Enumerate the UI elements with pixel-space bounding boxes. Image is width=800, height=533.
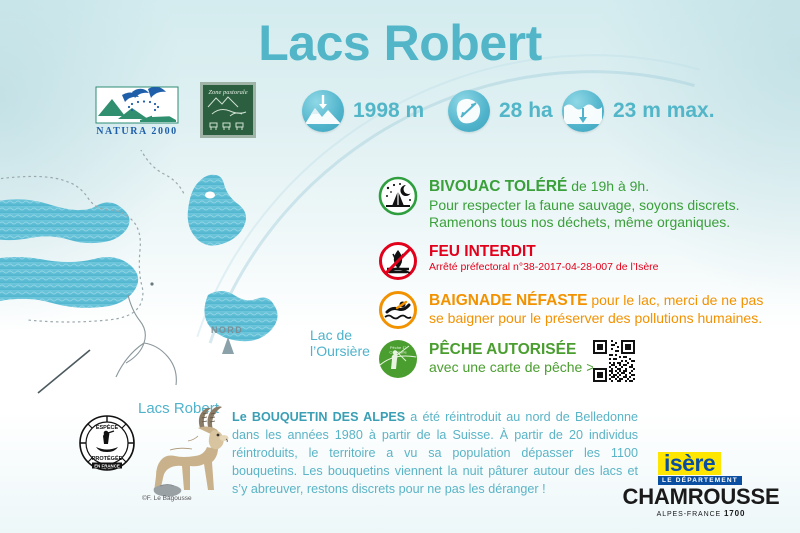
water-depth-icon	[562, 90, 604, 132]
rule-fishing-subrow: avec une carte de pêche >	[429, 359, 594, 377]
no-fire-icon	[378, 241, 418, 281]
svg-text:Catégorie: Catégorie	[389, 349, 407, 354]
rule-bivouac-line1: Pour respecter la faune sauvage, soyons …	[429, 197, 740, 215]
stats-row: NATURA 2000 Zone pastorale	[0, 82, 800, 144]
illustration-credit: ©F. Le Bagousse	[142, 495, 192, 502]
page-title: Lacs Robert	[0, 14, 800, 72]
lake-area-icon	[448, 90, 490, 132]
chamrousse-logo: CHAMROUSSE ALPES-FRANCE 1700	[612, 486, 790, 518]
chamrousse-logo-tagline: ALPES-FRANCE 1700	[612, 509, 790, 518]
map-label-lac-oursiere: Lac de l’Oursière	[310, 328, 370, 359]
chamrousse-logo-name: CHAMROUSSE	[612, 486, 790, 508]
rule-no-fire: FEU INTERDIT Arrêté préfectoral n°38-201…	[378, 241, 788, 281]
isere-logo-word: isère	[664, 453, 715, 475]
rules-list: BIVOUAC TOLÉRÉ de 19h à 9h. Pour respect…	[378, 176, 788, 388]
rule-bivouac-line2: Ramenons tous nos déchets, même organiqu…	[429, 214, 740, 232]
swimmer-icon	[378, 290, 418, 330]
compass-label: NORD	[211, 325, 243, 335]
rule-swimming: BAIGNADE NÉFASTE pour le lac, merci de n…	[378, 290, 788, 330]
stat-depth: 23 m max.	[562, 90, 715, 132]
bouquetin-paragraph-lead: Le BOUQUETIN DES ALPES	[232, 410, 405, 424]
poster-root: Lacs Robert NATURA 2000 Z	[0, 0, 800, 533]
isere-logo: isère LE DÉPARTEMENT	[658, 452, 742, 485]
stat-altitude-value: 1998 m	[353, 99, 424, 123]
mountain-altitude-icon	[302, 90, 344, 132]
rule-bivouac-headline: BIVOUAC TOLÉRÉ de 19h à 9h.	[429, 177, 740, 197]
lakes-map: NORD Lacs Robert Lac de l’Oursière	[0, 150, 372, 400]
svg-text:ESPÈCE: ESPÈCE	[96, 423, 119, 431]
zone-pastorale-logo: Zone pastorale	[200, 82, 256, 138]
rule-fishing-line1: avec une carte de pêche >	[429, 359, 594, 377]
rule-swimming-text: BAIGNADE NÉFASTE pour le lac, merci de n…	[429, 290, 763, 328]
stat-area-value: 28 ha	[499, 99, 553, 123]
svg-text:Zone pastorale: Zone pastorale	[208, 89, 247, 96]
map-label-lac-oursiere-line1: Lac de	[310, 328, 370, 344]
rule-swimming-line1: se baigner pour le préserver des polluti…	[429, 310, 763, 328]
rule-swimming-headline: BAIGNADE NÉFASTE pour le lac, merci de n…	[429, 291, 763, 311]
stat-altitude: 1998 m	[302, 90, 424, 132]
rule-bivouac: BIVOUAC TOLÉRÉ de 19h à 9h. Pour respect…	[378, 176, 788, 232]
protected-species-stamp-icon: ESPÈCE PROTÉGÉE EN FRANCE	[78, 414, 136, 472]
rule-no-fire-line1: Arrêté préfectoral n°38-2017-04-28-007 d…	[429, 261, 659, 274]
map-label-lac-oursiere-line2: l’Oursière	[310, 344, 370, 360]
rule-bivouac-text: BIVOUAC TOLÉRÉ de 19h à 9h. Pour respect…	[429, 176, 740, 232]
rule-fishing-headline: PÊCHE AUTORISÉE	[429, 340, 594, 360]
map-graphic	[0, 150, 372, 400]
svg-text:EN FRANCE: EN FRANCE	[94, 463, 120, 468]
natura-2000-logo: NATURA 2000	[92, 86, 182, 138]
isere-logo-box: isère	[658, 452, 721, 475]
north-arrow-icon	[222, 337, 234, 354]
svg-text:PROTÉGÉE: PROTÉGÉE	[92, 454, 123, 462]
rule-no-fire-headline: FEU INTERDIT	[429, 242, 659, 262]
svg-text:NATURA 2000: NATURA 2000	[96, 126, 178, 137]
rule-no-fire-text: FEU INTERDIT Arrêté préfectoral n°38-201…	[429, 241, 659, 275]
rule-fishing: Pêche 1° Catégorie PÊCHE AUTORISÉE avec …	[378, 339, 788, 379]
stat-depth-value: 23 m max.	[613, 99, 715, 123]
bivouac-tent-night-icon	[378, 176, 418, 216]
bouquetin-paragraph: Le BOUQUETIN DES ALPES a été réintroduit…	[232, 409, 638, 498]
qr-code-fishing-permit[interactable]	[593, 340, 635, 382]
fishing-allowed-icon: Pêche 1° Catégorie	[378, 339, 418, 379]
bouquetin-ibex-illustration	[140, 406, 244, 498]
stat-area: 28 ha	[448, 90, 553, 132]
rule-fishing-text: PÊCHE AUTORISÉE avec une carte de pêche …	[429, 339, 594, 377]
